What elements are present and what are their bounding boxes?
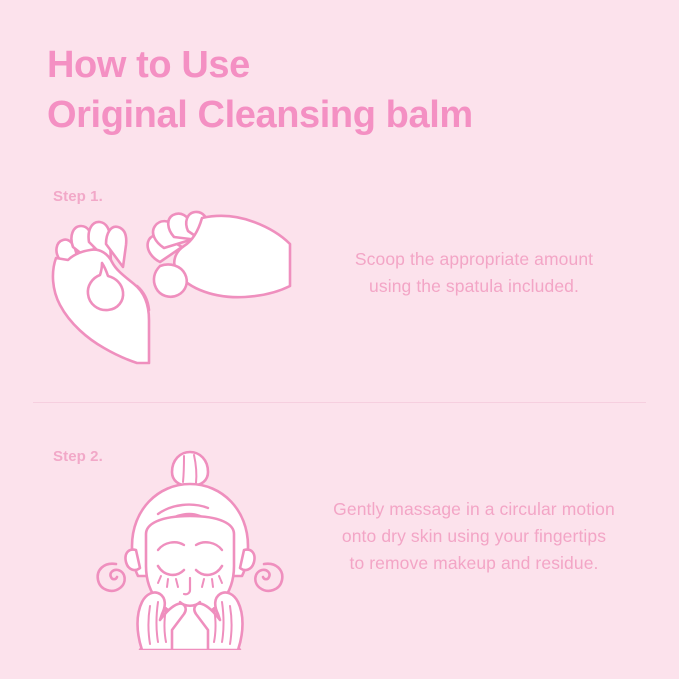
swirl-right-icon xyxy=(255,564,282,591)
step-2-description-line-1: Gently massage in a circular motion xyxy=(307,496,641,523)
hands-with-spatula-illustration xyxy=(42,200,302,375)
page-title-line-1: How to Use xyxy=(47,40,637,90)
step-1-description-line-2: using the spatula included. xyxy=(312,273,636,300)
step-2-section: Step 2. xyxy=(0,430,679,645)
step-2-description-line-2: onto dry skin using your fingertips xyxy=(307,523,641,550)
step-2-description: Gently massage in a circular motion onto… xyxy=(307,496,641,577)
step-1-description-line-1: Scoop the appropriate amount xyxy=(312,246,636,273)
face-massage-illustration xyxy=(80,438,300,650)
page-title: How to Use Original Cleansing balm xyxy=(47,40,637,140)
step-1-description: Scoop the appropriate amount using the s… xyxy=(312,246,636,300)
section-divider xyxy=(33,402,646,403)
step-2-description-line-3: to remove makeup and residue. xyxy=(307,550,641,577)
how-to-use-infographic: How to Use Original Cleansing balm Step … xyxy=(0,0,679,679)
swirl-left-icon xyxy=(98,564,125,591)
page-title-line-2: Original Cleansing balm xyxy=(47,90,637,140)
step-1-section: Step 1. xyxy=(0,170,679,380)
